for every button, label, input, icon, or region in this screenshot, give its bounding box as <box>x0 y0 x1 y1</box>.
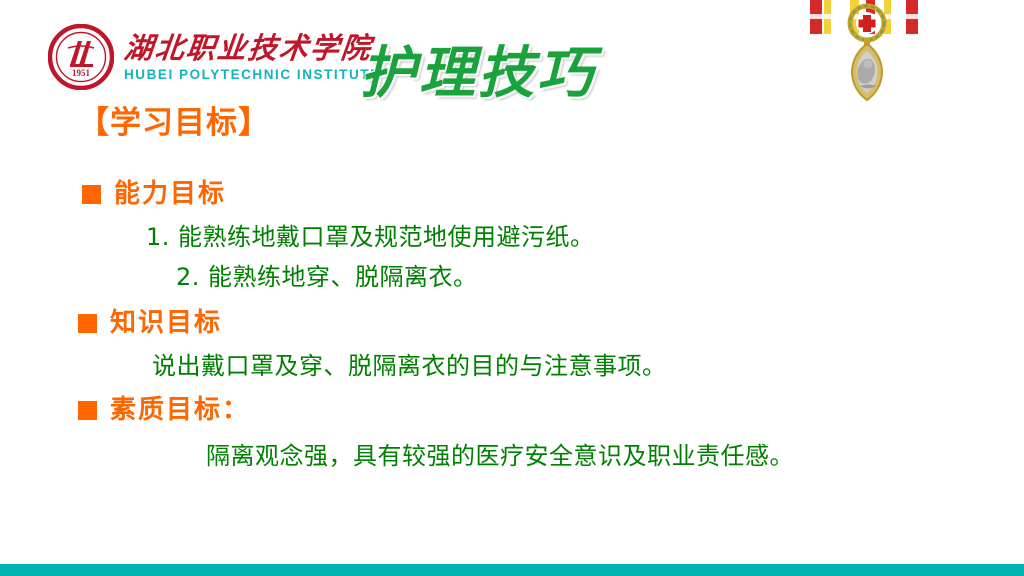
school-name-block: 湖北职业技术学院 HUBEI POLYTECHNIC INSTITUTE <box>124 32 381 82</box>
slide-root: 1951 湖北职业技术学院 HUBEI POLYTECHNIC INSTITUT… <box>0 0 1024 576</box>
goal-heading-knowledge-label: 知识目标 <box>110 308 222 339</box>
goal-item-ability-1: 1. 能熟练地戴口罩及规范地使用避污纸。 <box>146 222 1024 252</box>
seal-year-text: 1951 <box>72 68 91 78</box>
goal-heading-quality: 素质目标： <box>78 395 1024 426</box>
square-bullet-icon <box>78 401 97 420</box>
goal-item-ability-2: 2. 能熟练地穿、脱隔离衣。 <box>176 262 1024 292</box>
university-seal-icon: 1951 <box>48 24 114 90</box>
slide-content: 【学习目标】 能力目标 1. 能熟练地戴口罩及规范地使用避污纸。 2. 能熟练地… <box>0 104 1024 471</box>
school-name-en: HUBEI POLYTECHNIC INSTITUTE <box>124 67 381 82</box>
goal-heading-ability-label: 能力目标 <box>114 179 226 210</box>
slide-header: 1951 湖北职业技术学院 HUBEI POLYTECHNIC INSTITUT… <box>0 0 1024 108</box>
school-name-cn: 湖北职业技术学院 <box>122 32 382 64</box>
course-title: 护理技巧 <box>360 28 596 109</box>
footer-accent-bar <box>0 564 1024 576</box>
goal-heading-ability: 能力目标 <box>82 179 1024 210</box>
page-title: 【学习目标】 <box>78 104 1024 143</box>
goal-item-knowledge-1: 说出戴口罩及穿、脱隔离衣的目的与注意事项。 <box>152 351 1024 381</box>
nightingale-medal-icon <box>802 0 932 104</box>
goal-heading-quality-label: 素质目标： <box>110 395 250 426</box>
goal-heading-knowledge: 知识目标 <box>78 308 1024 339</box>
square-bullet-icon <box>82 185 101 204</box>
institution-logo: 1951 湖北职业技术学院 HUBEI POLYTECHNIC INSTITUT… <box>48 24 381 90</box>
goal-item-quality-1: 隔离观念强，具有较强的医疗安全意识及职业责任感。 <box>206 441 1024 471</box>
square-bullet-icon <box>78 314 97 333</box>
